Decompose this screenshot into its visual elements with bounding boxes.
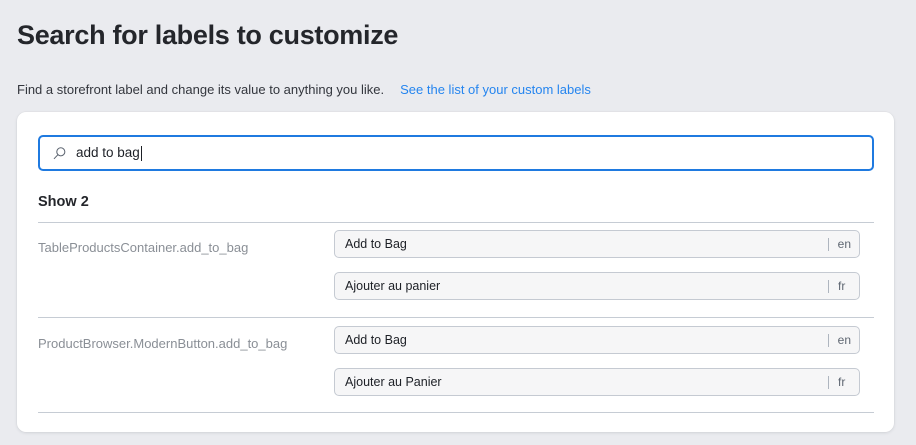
divider-top xyxy=(38,222,874,223)
label-value-text: Ajouter au Panier xyxy=(345,375,828,389)
lang-code: fr xyxy=(838,375,851,389)
label-value-field[interactable]: Add to Bag en xyxy=(334,230,860,258)
search-card: add to bag Show 2 TableProductsContainer… xyxy=(17,112,894,432)
custom-labels-link[interactable]: See the list of your custom labels xyxy=(400,82,591,97)
lang-badge: en xyxy=(828,237,851,251)
label-value-field[interactable]: Add to Bag en xyxy=(334,326,860,354)
lang-badge: en xyxy=(828,333,851,347)
lang-separator-icon xyxy=(828,376,829,389)
label-key: TableProductsContainer.add_to_bag xyxy=(38,240,248,255)
lang-code: fr xyxy=(838,279,851,293)
label-values: Add to Bag en Ajouter au panier fr xyxy=(334,230,860,300)
results-count: Show 2 xyxy=(38,194,89,210)
page-subtitle: Find a storefront label and change its v… xyxy=(17,82,591,97)
lang-separator-icon xyxy=(828,334,829,347)
lang-badge: fr xyxy=(828,279,851,293)
lang-code: en xyxy=(838,237,851,251)
text-caret xyxy=(141,146,142,161)
label-value-text: Ajouter au panier xyxy=(345,279,828,293)
search-input-value: add to bag xyxy=(76,146,140,160)
label-value-field[interactable]: Ajouter au panier fr xyxy=(334,272,860,300)
subtitle-text: Find a storefront label and change its v… xyxy=(17,82,384,97)
lang-badge: fr xyxy=(828,375,851,389)
page-title: Search for labels to customize xyxy=(17,20,398,51)
label-value-field[interactable]: Ajouter au Panier fr xyxy=(334,368,860,396)
search-input[interactable]: add to bag xyxy=(38,135,874,171)
lang-separator-icon xyxy=(828,280,829,293)
lang-separator-icon xyxy=(828,238,829,251)
divider-bottom xyxy=(38,412,874,413)
lang-code: en xyxy=(838,333,851,347)
label-values: Add to Bag en Ajouter au Panier fr xyxy=(334,326,860,396)
search-icon xyxy=(52,146,67,161)
label-value-text: Add to Bag xyxy=(345,237,828,251)
divider-middle xyxy=(38,317,874,318)
label-value-text: Add to Bag xyxy=(345,333,828,347)
label-key: ProductBrowser.ModernButton.add_to_bag xyxy=(38,336,287,351)
